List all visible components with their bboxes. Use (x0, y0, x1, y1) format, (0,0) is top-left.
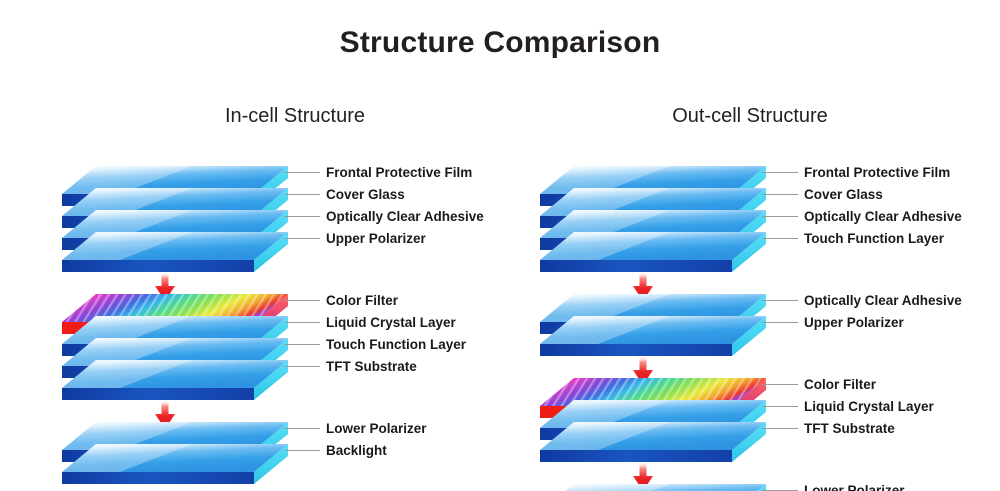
layer-label: Upper Polarizer (804, 316, 904, 330)
layer-plate-backlight (62, 438, 292, 484)
layer-plate-upper-polarizer (62, 226, 292, 272)
layer-label: Lower Polarizer (326, 422, 427, 436)
layer-label: Frontal Protective Film (804, 166, 950, 180)
layer-label: Color Filter (326, 294, 398, 308)
layer-label: Upper Polarizer (326, 232, 426, 246)
leader-line (284, 450, 320, 451)
leader-line (762, 172, 798, 173)
leader-line (762, 216, 798, 217)
stack-outcell: Frontal Protective Film Cover Glass Opti… (470, 0, 970, 491)
layer-plate-tft-substrate (540, 416, 770, 462)
leader-line (284, 366, 320, 367)
layer-label: Cover Glass (804, 188, 883, 202)
leader-line (284, 194, 320, 195)
leader-line (284, 172, 320, 173)
leader-line (762, 322, 798, 323)
layer-plate-upper-polarizer (540, 310, 770, 356)
leader-line (762, 194, 798, 195)
layer-label: Liquid Crystal Layer (326, 316, 456, 330)
leader-line (284, 344, 320, 345)
layer-label: Cover Glass (326, 188, 405, 202)
stack-incell: Frontal Protective Film Cover Glass Opti… (0, 0, 500, 491)
layer-plate-lower-polarizer (540, 478, 770, 491)
layer-label: Backlight (326, 444, 387, 458)
leader-line (284, 238, 320, 239)
leader-line (284, 322, 320, 323)
leader-line (284, 428, 320, 429)
layer-label: Optically Clear Adhesive (326, 210, 484, 224)
diagram-canvas: Structure Comparison In-cell Structure O… (0, 0, 1000, 491)
leader-line (284, 216, 320, 217)
layer-label: TFT Substrate (326, 360, 417, 374)
layer-label: Optically Clear Adhesive (804, 210, 962, 224)
leader-line (762, 406, 798, 407)
layer-label: Optically Clear Adhesive (804, 294, 962, 308)
layer-label: Touch Function Layer (804, 232, 944, 246)
layer-label: Color Filter (804, 378, 876, 392)
layer-label: TFT Substrate (804, 422, 895, 436)
layer-label: Touch Function Layer (326, 338, 466, 352)
layer-label: Liquid Crystal Layer (804, 400, 934, 414)
leader-line (762, 238, 798, 239)
layer-label: Frontal Protective Film (326, 166, 472, 180)
leader-line (284, 300, 320, 301)
layer-label: Lower Polarizer (804, 484, 905, 491)
leader-line (762, 300, 798, 301)
layer-plate-tft-substrate (62, 354, 292, 400)
leader-line (762, 428, 798, 429)
layer-plate-touch-function-layer (540, 226, 770, 272)
leader-line (762, 384, 798, 385)
